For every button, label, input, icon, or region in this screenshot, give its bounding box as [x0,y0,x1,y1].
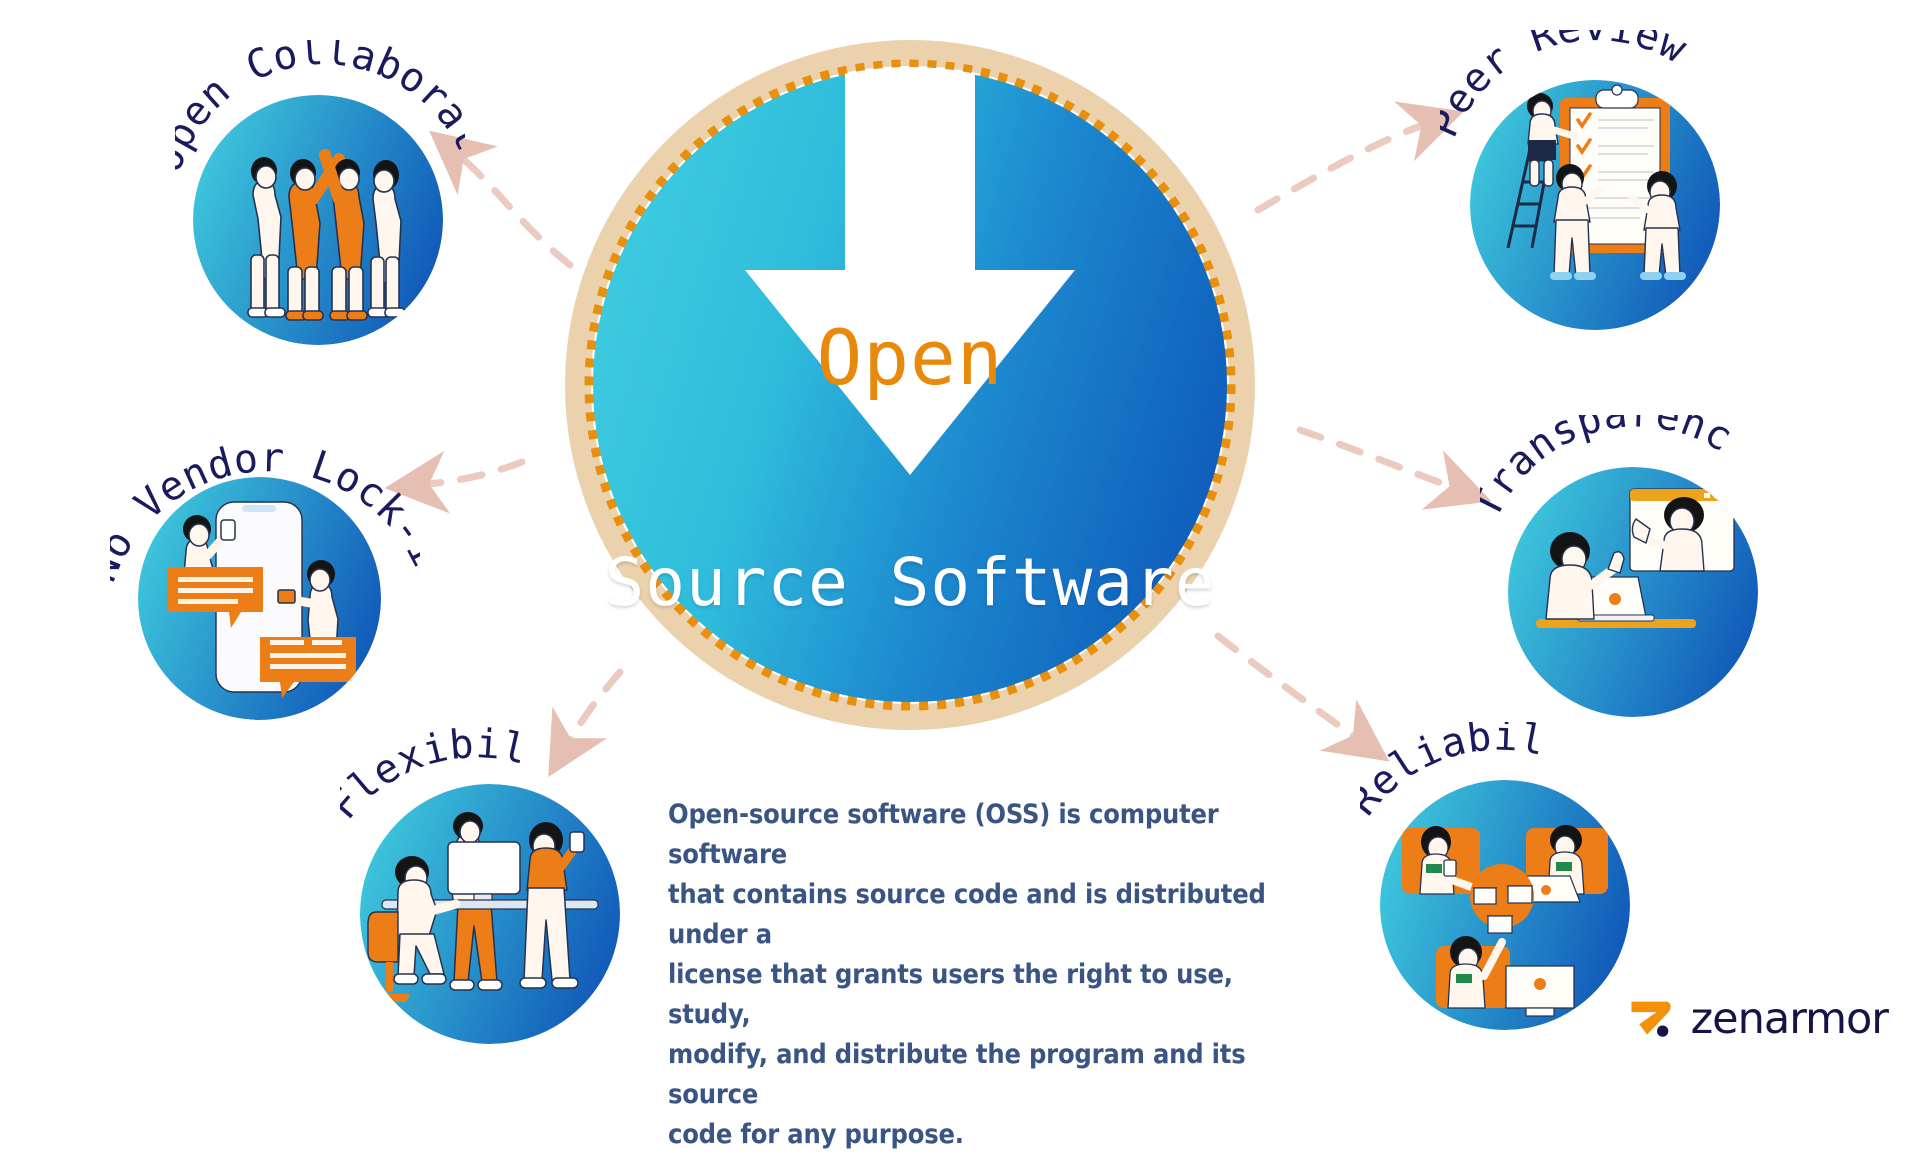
video-call-icon [1508,467,1758,717]
description-line: Open-source software (OSS) is computer s… [668,795,1268,875]
connector-peer-review [1258,122,1432,210]
description-line: modify, and distribute the program and i… [668,1035,1268,1115]
description-line: code for any purpose. [668,1115,1268,1155]
center-title-open: Open [555,320,1265,396]
node-no-vendor-lock-in[interactable]: No Vendor Lock-in [110,420,420,720]
remote-team-messages-icon [1380,780,1630,1030]
central-circle: Open Source Software [555,30,1265,740]
node-peer-review[interactable]: Peer Review [1440,30,1750,330]
office-desk-team-icon [360,784,620,1044]
connector-no-vendor-lock-in [418,462,522,485]
description-line: that contains source code and is distrib… [668,875,1268,955]
description-line: license that grants users the right to u… [668,955,1268,1035]
infographic-canvas: Open Source Software [0,0,1920,1080]
connector-transparency [1300,430,1460,490]
zenarmor-mark-icon [1628,991,1677,1047]
connector-open-collaboration [455,152,570,265]
zenarmor-wordmark: zenarmor [1691,998,1888,1041]
node-flexibility[interactable]: Flexibility [340,726,640,1046]
phone-chat-bubbles-icon [138,477,381,720]
clipboard-checklist-icon [1470,80,1720,330]
people-high-five-icon [193,95,443,345]
node-open-collaboration[interactable]: Open Collaboration [175,40,465,330]
zenarmor-logo[interactable]: zenarmor [1628,988,1888,1050]
description-paragraph: Open-source software (OSS) is computer s… [668,795,1268,1155]
node-reliability[interactable]: Reliability [1360,722,1660,1042]
node-transparency[interactable]: Transparency [1480,415,1800,715]
center-title-main: Source Software [555,550,1265,616]
